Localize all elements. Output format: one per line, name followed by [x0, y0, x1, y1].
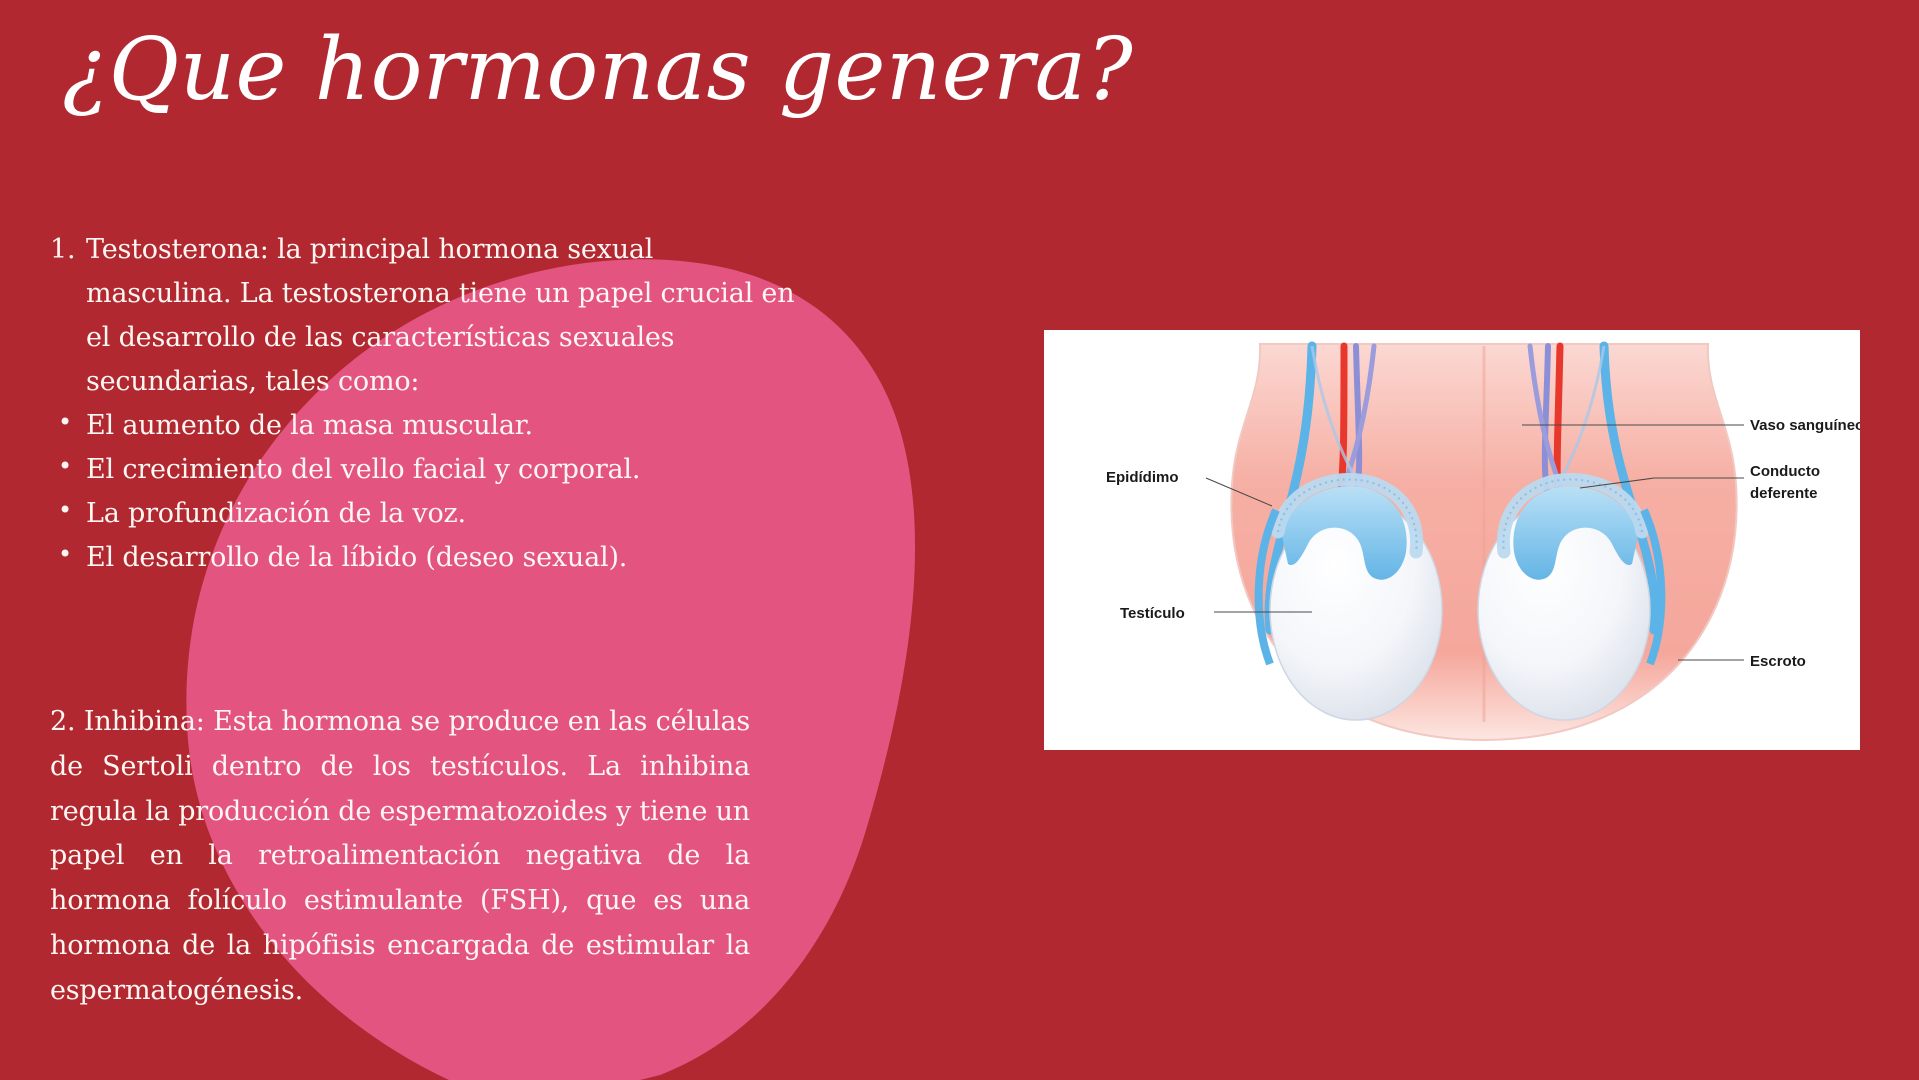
anatomy-figure: Vaso sanguíneo Conducto deferente Epidíd…: [1044, 330, 1860, 750]
list-item: El crecimiento del vello facial y corpor…: [50, 448, 930, 492]
label-conducto-deferente-line1: Conducto: [1750, 463, 1820, 480]
list-item: La profundización de la voz.: [50, 492, 930, 536]
list-item-testosterona: 1. Testosterona: la principal hormona se…: [50, 228, 930, 404]
anatomy-illustration: Vaso sanguíneo Conducto deferente Epidíd…: [1044, 330, 1860, 750]
slide-canvas: ¿Que hormonas genera? 1. Testosterona: l…: [0, 0, 1919, 1080]
label-epididimo: Epidídimo: [1106, 469, 1179, 486]
label-vaso-sanguineo: Vaso sanguíneo: [1750, 417, 1860, 434]
label-conducto-deferente-line2: deferente: [1750, 485, 1818, 502]
bullet-list: El aumento de la masa muscular. El creci…: [50, 404, 930, 580]
paragraph-inhibina: 2. Inhibina: Esta hormona se produce en …: [50, 700, 750, 1014]
page-title: ¿Que hormonas genera?: [62, 22, 1262, 118]
list-text-1: Testosterona: la principal hormona sexua…: [86, 228, 930, 404]
content-column: 1. Testosterona: la principal hormona se…: [50, 228, 930, 580]
list-item: El aumento de la masa muscular.: [50, 404, 930, 448]
label-escroto: Escroto: [1750, 653, 1806, 670]
list-marker-1: 1.: [50, 228, 86, 272]
label-testiculo: Testículo: [1120, 605, 1185, 622]
list-item: El desarrollo de la líbido (deseo sexual…: [50, 536, 930, 580]
